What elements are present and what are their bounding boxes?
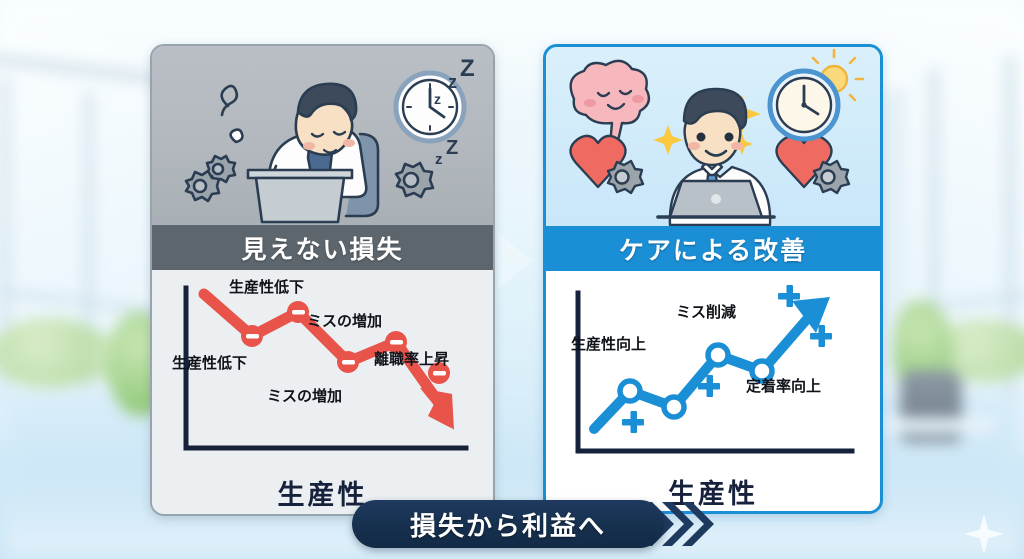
svg-text:z: z bbox=[448, 72, 457, 92]
chart-label-1: ミス削減 bbox=[676, 301, 736, 322]
chart-label-4: 離職率上昇 bbox=[374, 348, 449, 369]
chart-line bbox=[594, 311, 814, 429]
heart-gear-icon bbox=[570, 136, 643, 193]
clock-icon bbox=[770, 71, 838, 139]
illustration-happy-worker bbox=[546, 47, 880, 226]
panel-loss[interactable]: z Z z z Z 見えない損失 bbox=[150, 44, 495, 516]
bottom-banner-label: 損失から利益へ bbox=[410, 506, 606, 543]
panel-care[interactable]: ケアによる改善 生産性向上 ミス削減 bbox=[543, 44, 883, 514]
brain-icon bbox=[571, 61, 649, 147]
svg-text:z: z bbox=[434, 91, 441, 107]
chart-label-0: 生産性向上 bbox=[571, 333, 646, 354]
illustration-tired-worker: z Z z z Z bbox=[152, 46, 493, 225]
chart-rising[interactable]: 生産性向上 ミス削減 定着率向上 生産性 bbox=[546, 271, 880, 514]
svg-text:Z: Z bbox=[446, 137, 458, 159]
chart-label-2: 定着率向上 bbox=[746, 375, 821, 396]
chart-label-3: ミスの増加 bbox=[267, 385, 342, 406]
tired-worker-illustration-svg: z Z z z Z bbox=[152, 46, 493, 225]
chart-label-0: 生産性低下 bbox=[229, 276, 304, 297]
panel-header-care-label: ケアによる改善 bbox=[619, 231, 807, 267]
gap-chevron-icon bbox=[492, 228, 544, 294]
svg-text:Z: Z bbox=[460, 55, 475, 82]
happy-worker-illustration-svg bbox=[546, 47, 880, 226]
gear-icon bbox=[396, 163, 433, 197]
chart-label-1: 生産性低下 bbox=[172, 352, 247, 373]
sparkle-icon bbox=[653, 125, 683, 155]
panel-header-loss-label: 見えない損失 bbox=[241, 230, 403, 266]
squiggle-icon bbox=[222, 86, 237, 115]
office-desk bbox=[876, 418, 996, 434]
bottom-banner[interactable]: 損失から利益へ bbox=[352, 500, 664, 548]
chart-declining[interactable]: 生産性低下 生産性低下 ミスの増加 ミスの増加 離職率上昇 生産性 bbox=[152, 270, 493, 516]
sparkle-icon bbox=[962, 512, 1006, 556]
panel-header-care: ケアによる改善 bbox=[546, 226, 880, 271]
svg-text:z: z bbox=[435, 151, 443, 168]
steam-puff-icon bbox=[231, 130, 243, 142]
panel-header-loss: 見えない損失 bbox=[152, 225, 493, 270]
chart-label-2: ミスの増加 bbox=[307, 310, 382, 331]
heart-gear-icon bbox=[776, 136, 849, 193]
